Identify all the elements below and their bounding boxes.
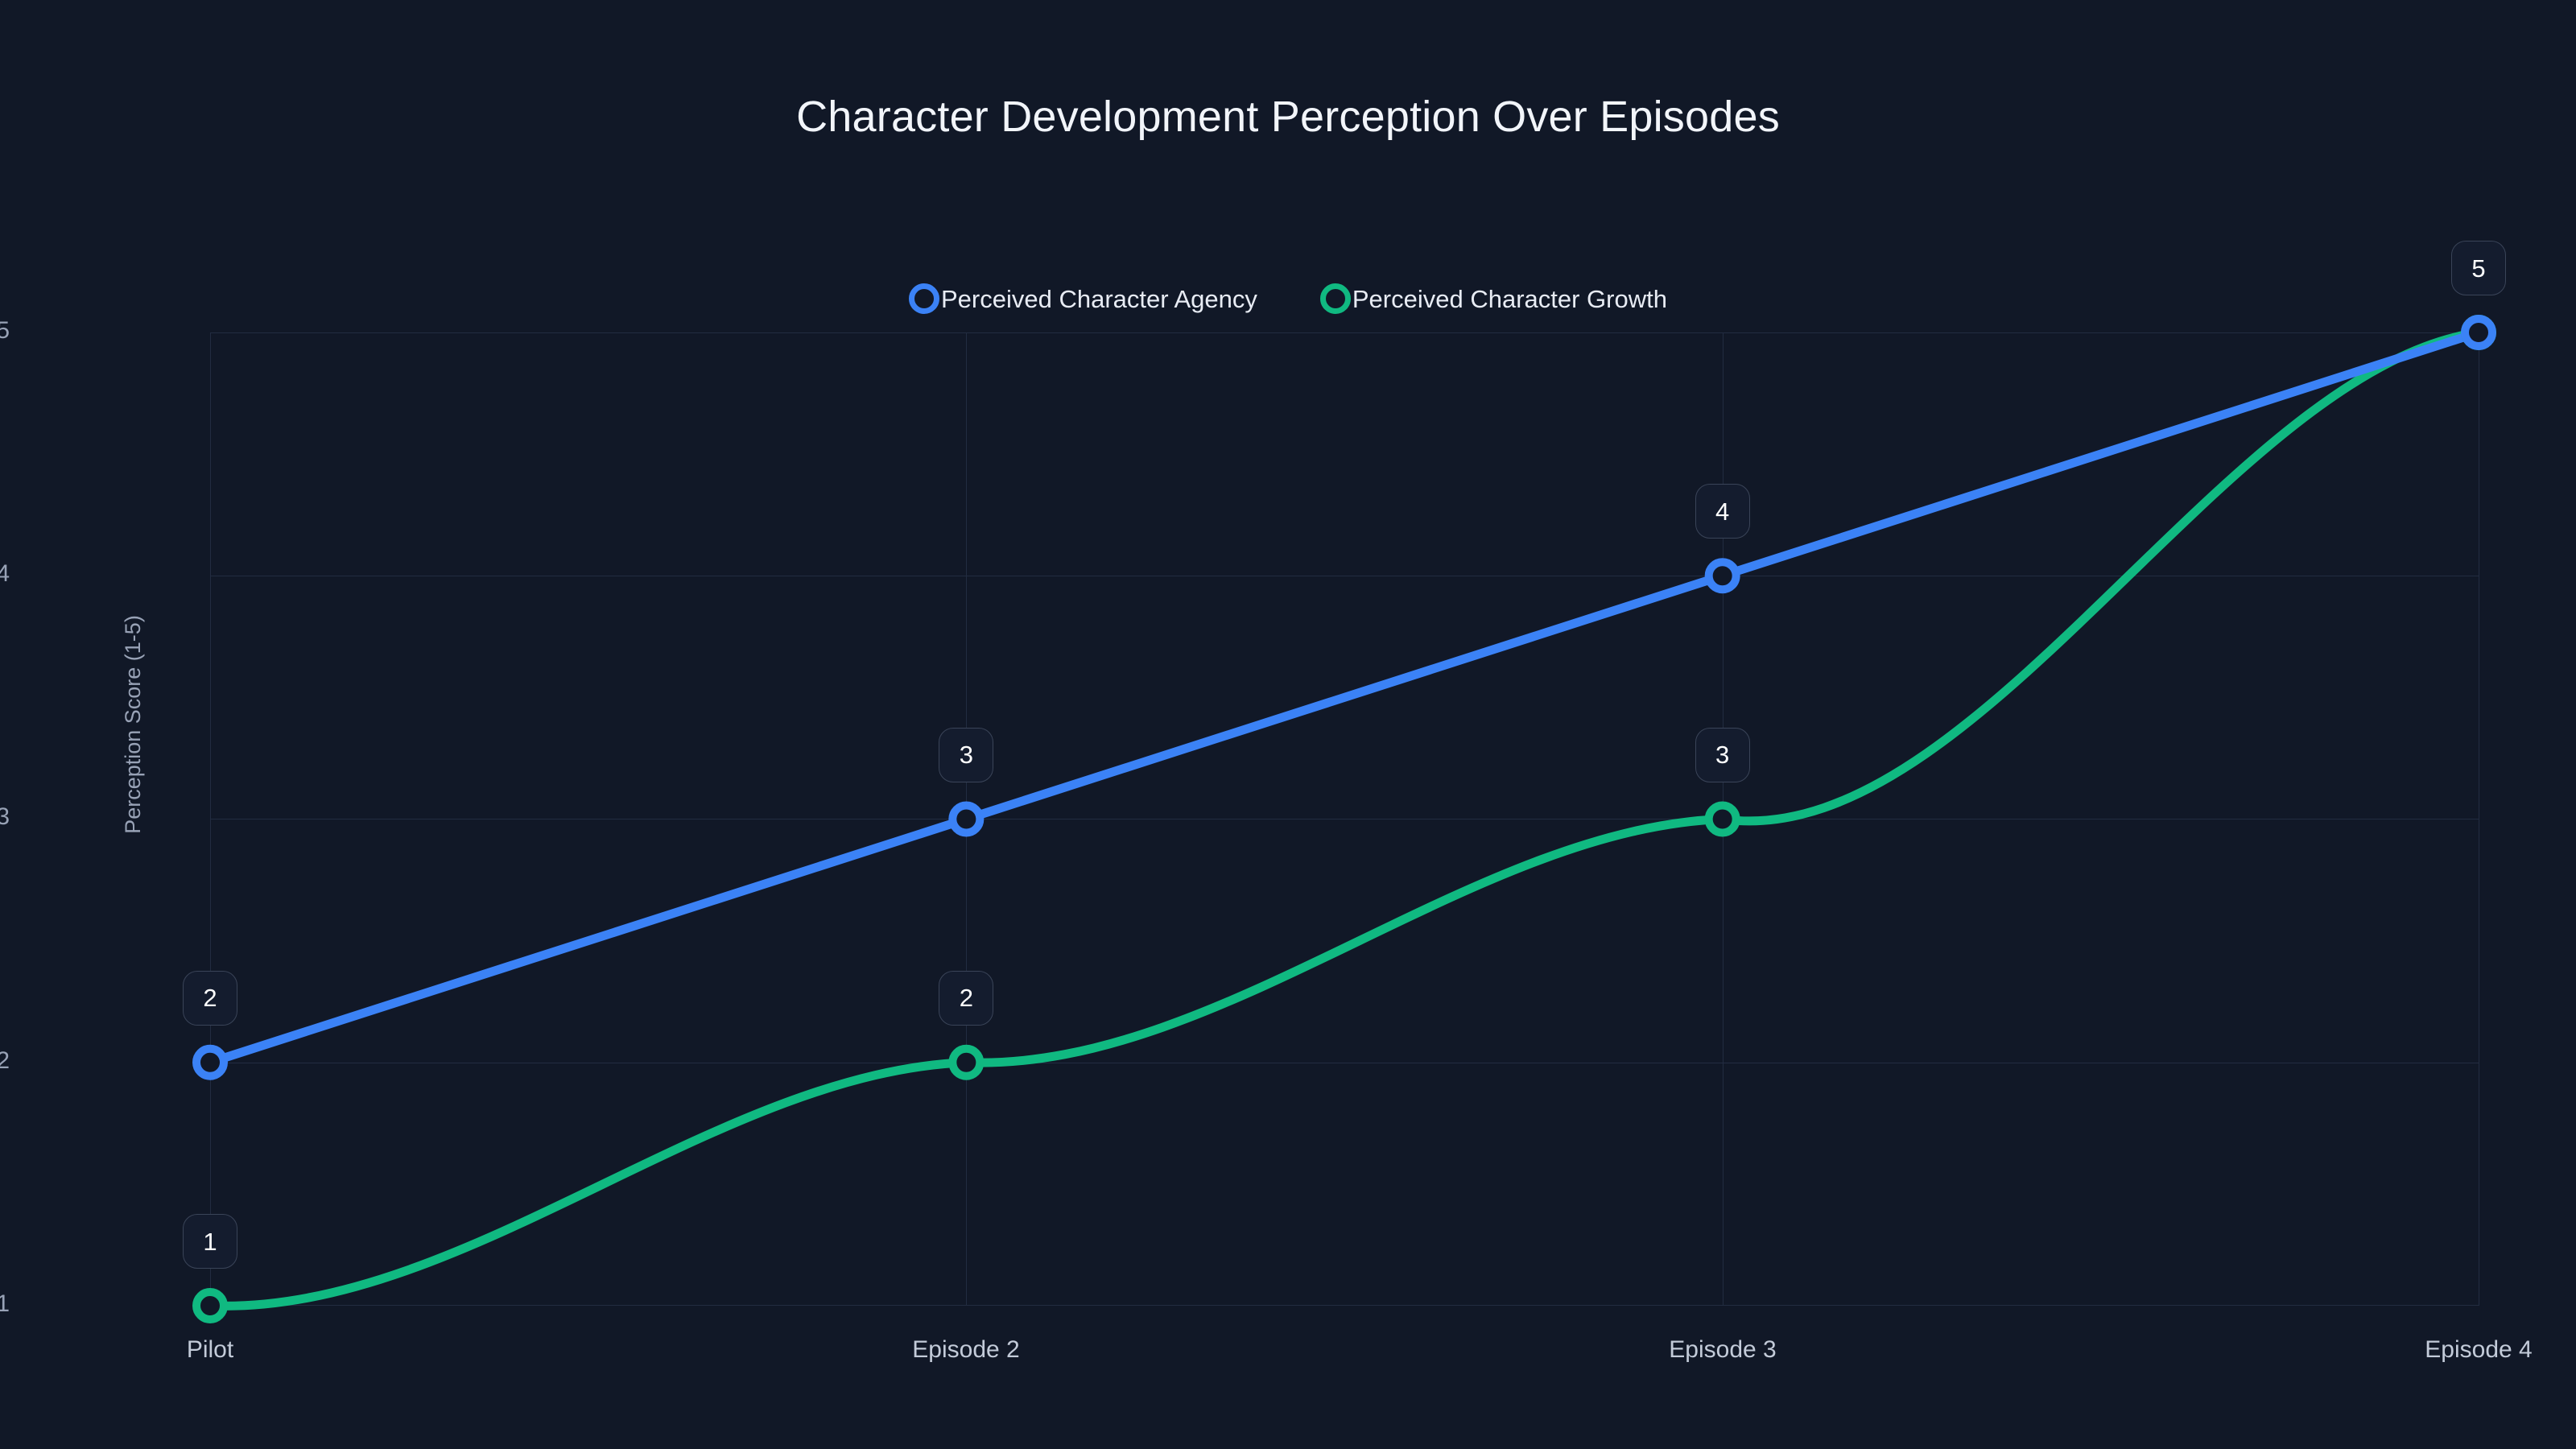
gridline-x-episode-3	[1723, 332, 1724, 1306]
legend-label-agency: Perceived Character Agency	[939, 287, 1257, 312]
legend-label-growth: Perceived Character Growth	[1351, 287, 1667, 312]
chart-canvas: Character Development Perception Over Ep…	[0, 0, 2576, 1449]
plot-area	[210, 332, 2479, 1306]
data-label-agency-episode-2: 3	[939, 728, 993, 782]
ring-marker-icon	[909, 283, 939, 314]
gridline-y-1	[210, 1305, 2479, 1306]
data-label-growth-episode-3: 3	[1695, 728, 1750, 782]
legend-item-growth[interactable]: Perceived Character Growth	[1320, 283, 1667, 314]
legend-item-agency[interactable]: Perceived Character Agency	[909, 283, 1257, 314]
y-axis-title: Perception Score (1-5)	[121, 615, 146, 834]
data-label-growth-pilot: 1	[183, 1214, 237, 1269]
data-label-growth-episode-2: 2	[939, 971, 993, 1026]
x-tick-episode-3: Episode 3	[1669, 1336, 1776, 1364]
gridline-y-2	[210, 1063, 2479, 1063]
gridline-y-4	[210, 576, 2479, 576]
data-label-agency-episode-3: 4	[1695, 484, 1750, 539]
gridline-x-pilot	[210, 332, 211, 1306]
data-label-agency-pilot: 2	[183, 971, 237, 1026]
chart-legend: Perceived Character Agency Perceived Cha…	[0, 283, 2576, 314]
x-tick-pilot: Pilot	[187, 1336, 233, 1364]
gridline-x-episode-2	[966, 332, 967, 1306]
gridline-y-3	[210, 819, 2479, 819]
data-label-agency-episode-4: 5	[2451, 241, 2506, 295]
ring-marker-icon	[1320, 283, 1351, 314]
chart-title: Character Development Perception Over Ep…	[0, 92, 2576, 142]
x-tick-episode-4: Episode 4	[2425, 1336, 2532, 1364]
gridline-y-5	[210, 332, 2479, 333]
x-tick-episode-2: Episode 2	[912, 1336, 1019, 1364]
gridline-x-episode-4	[2479, 332, 2479, 1306]
